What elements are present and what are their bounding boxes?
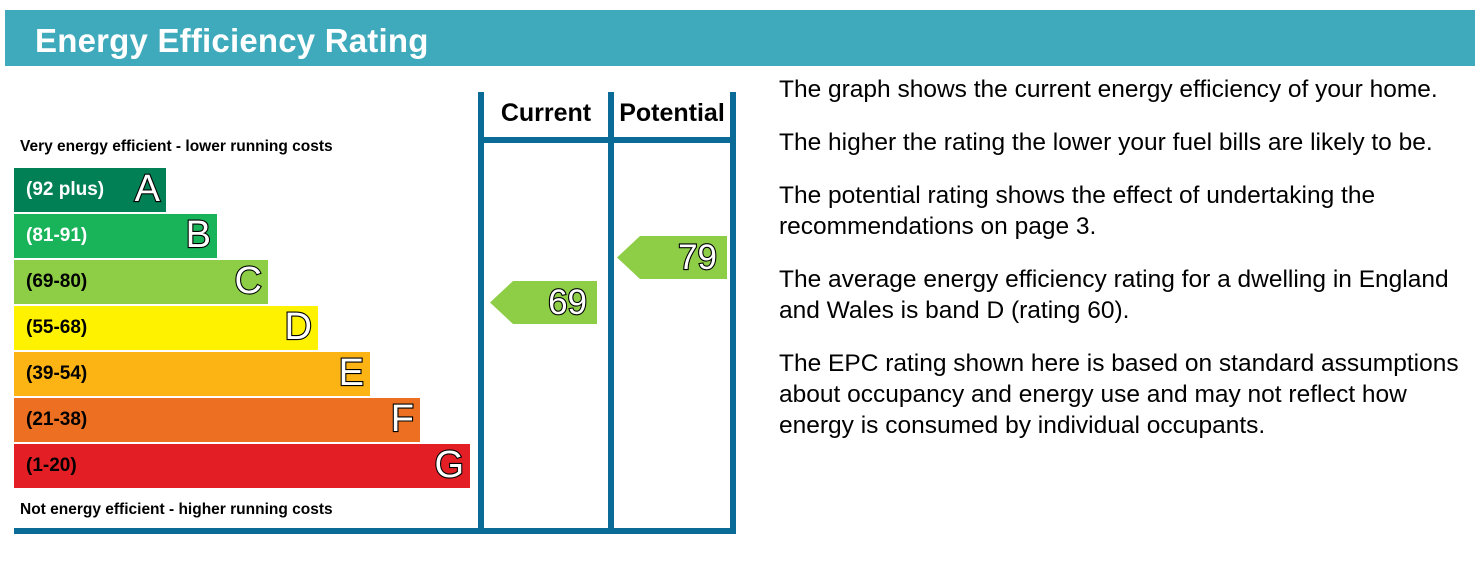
band-range-c: (69-80) <box>26 271 87 293</box>
info-paragraph-5: The EPC rating shown here is based on st… <box>779 348 1479 441</box>
column-header-current: Current <box>484 99 608 128</box>
table-border-left <box>478 92 484 534</box>
current-rating-marker: 69 <box>490 281 597 324</box>
table-border-right <box>730 92 736 534</box>
info-paragraph-1: The graph shows the current energy effic… <box>779 74 1479 105</box>
header-banner: Energy Efficiency Rating <box>5 10 1475 66</box>
band-range-a: (92 plus) <box>26 179 104 201</box>
band-row-d: (55-68)D <box>14 306 318 350</box>
band-letter-a: A <box>135 170 160 208</box>
info-panel: The graph shows the current energy effic… <box>779 74 1479 441</box>
page-title: Energy Efficiency Rating <box>35 22 429 60</box>
band-range-g: (1-20) <box>26 455 77 477</box>
current-rating-value: 69 <box>548 285 587 320</box>
band-row-g: (1-20)G <box>14 444 470 488</box>
band-letter-f: F <box>391 400 414 438</box>
column-header-potential: Potential <box>614 99 730 128</box>
band-row-f: (21-38)F <box>14 398 420 442</box>
band-letter-b: B <box>186 216 211 254</box>
band-row-e: (39-54)E <box>14 352 370 396</box>
band-letter-c: C <box>235 262 262 300</box>
table-border-middle <box>608 92 614 534</box>
chart-caption-top: Very energy efficient - lower running co… <box>20 138 333 156</box>
band-letter-e: E <box>339 354 364 392</box>
band-range-b: (81-91) <box>26 225 87 247</box>
band-range-f: (21-38) <box>26 409 87 431</box>
band-letter-d: D <box>285 308 312 346</box>
potential-rating-marker: 79 <box>617 236 727 279</box>
info-paragraph-3: The potential rating shows the effect of… <box>779 180 1479 242</box>
band-row-c: (69-80)C <box>14 260 268 304</box>
info-paragraph-2: The higher the rating the lower your fue… <box>779 127 1479 158</box>
info-paragraph-4: The average energy efficiency rating for… <box>779 264 1479 326</box>
potential-rating-value: 79 <box>678 240 717 275</box>
band-range-e: (39-54) <box>26 363 87 385</box>
table-border-bottom <box>14 528 736 534</box>
energy-efficiency-chart: Very energy efficient - lower running co… <box>0 80 740 540</box>
band-row-a: (92 plus)A <box>14 168 166 212</box>
table-header-rule <box>478 137 736 143</box>
band-row-b: (81-91)B <box>14 214 217 258</box>
chart-caption-bottom: Not energy efficient - higher running co… <box>20 501 333 519</box>
band-range-d: (55-68) <box>26 317 87 339</box>
band-letter-g: G <box>434 446 464 484</box>
